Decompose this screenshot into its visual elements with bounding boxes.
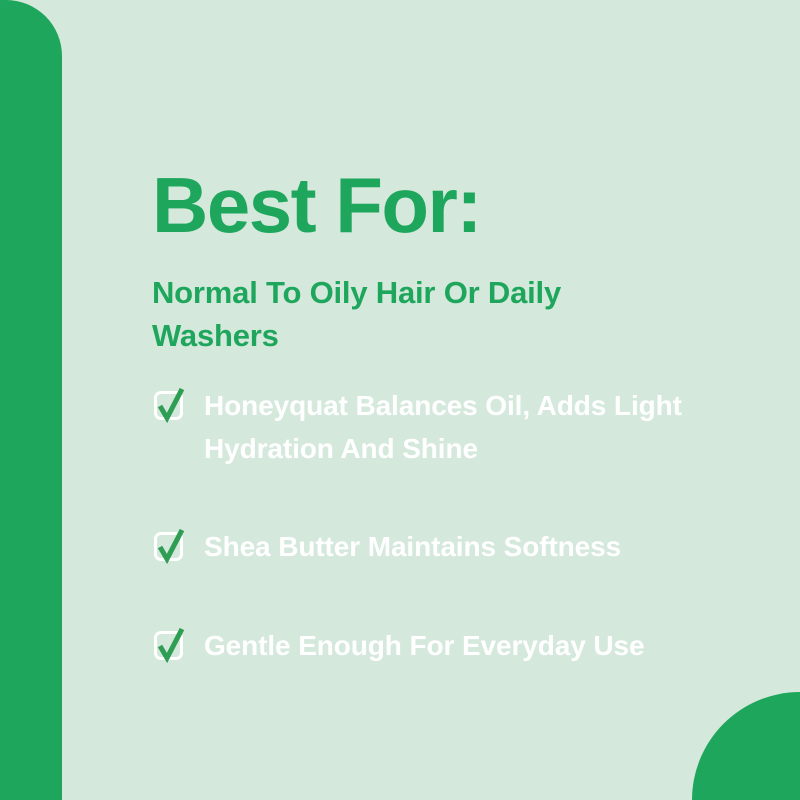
- benefits-checklist: Honeyquat Balances Oil, Adds Light Hydra…: [154, 385, 734, 667]
- list-item-label: Shea Butter Maintains Softness: [204, 526, 621, 569]
- checkbox-checked-icon: [154, 528, 188, 562]
- list-item-label: Honeyquat Balances Oil, Adds Light Hydra…: [204, 385, 704, 470]
- page-subtitle: Normal To Oily Hair Or Daily Washers: [152, 272, 682, 358]
- checkbox-checked-icon: [154, 627, 188, 661]
- card-content: Best For: Normal To Oily Hair Or Daily W…: [152, 0, 752, 800]
- checkbox-checked-icon: [154, 387, 188, 421]
- list-item: Honeyquat Balances Oil, Adds Light Hydra…: [154, 385, 734, 470]
- list-item-label: Gentle Enough For Everyday Use: [204, 625, 644, 668]
- best-for-card: Best For: Normal To Oily Hair Or Daily W…: [0, 0, 800, 800]
- list-item: Shea Butter Maintains Softness: [154, 526, 734, 569]
- page-title: Best For:: [152, 166, 481, 244]
- left-accent-bar: [0, 0, 62, 800]
- list-item: Gentle Enough For Everyday Use: [154, 625, 734, 668]
